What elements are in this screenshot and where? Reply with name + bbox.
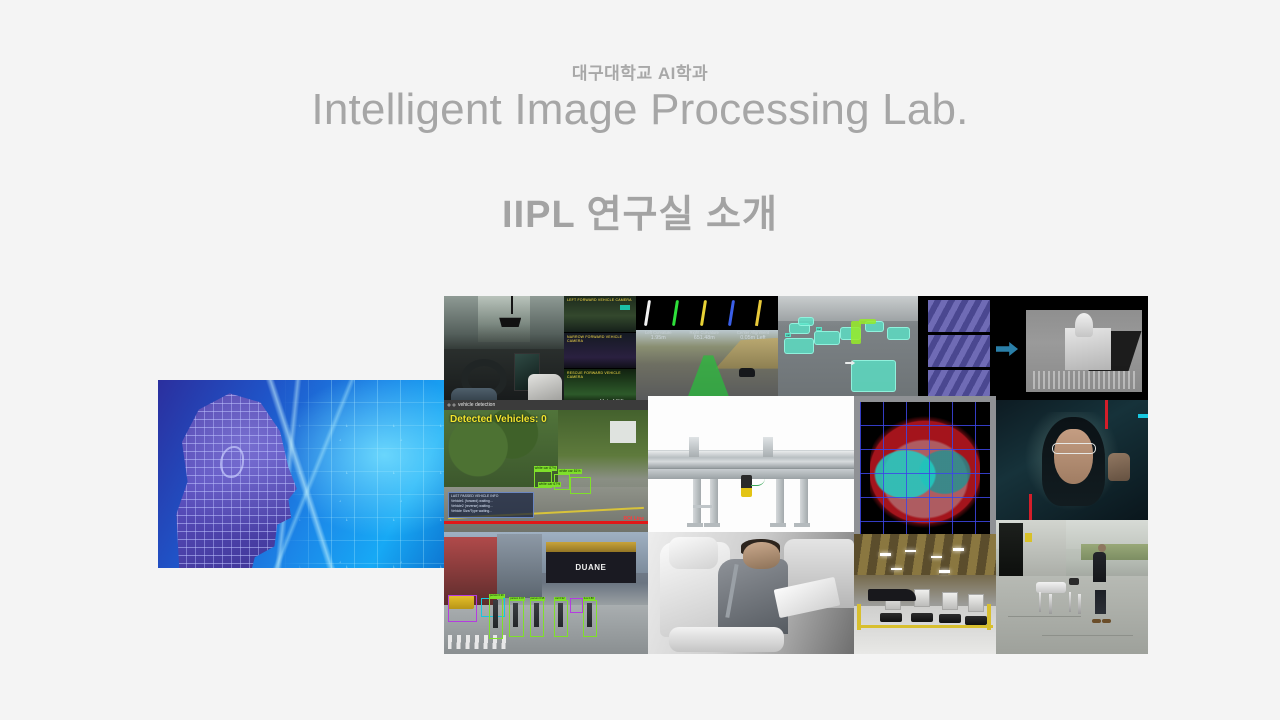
slide-subtitle: IIPL 연구실 소개 (0, 183, 1280, 238)
sensor-cable (751, 478, 765, 486)
lane-curve-green (666, 298, 692, 328)
aerial-view-stack (928, 300, 990, 402)
window-titlebar: vehicle detection (444, 400, 648, 410)
floor-safety-rail (857, 625, 993, 628)
safety-post (857, 604, 861, 630)
roi-label: ROI Line (623, 516, 644, 522)
detection-label: bus 0.88 (583, 597, 595, 601)
robot-head (1069, 578, 1079, 585)
guardrail-sensor-image (648, 396, 854, 532)
last-passed-vehicle-info-panel: LAST PASSED VEHICLE INFO Vehicle1 (forwa… (448, 492, 534, 518)
camera-frame-2: NARROW FORWARD VEHICLE CAMERA (564, 333, 636, 370)
aerial-view-1 (928, 300, 990, 332)
vehicle-mask-label: car (785, 333, 791, 337)
post-base (687, 523, 703, 527)
quadruped-robot-image (996, 520, 1148, 654)
shelf-pod (968, 594, 984, 612)
vehicle-mask (784, 338, 815, 355)
person-torso (1093, 552, 1106, 582)
ceiling-light (880, 553, 891, 556)
detection-label: white car 67% (538, 482, 561, 487)
person-head (1098, 544, 1106, 552)
detection-label: white car 81% (558, 469, 581, 474)
robot-leg (1039, 592, 1042, 612)
detection-marker (620, 305, 630, 310)
camera-frame-1: LEFT FORWARD VEHICLE CAMERA (564, 296, 636, 333)
post-brace (693, 505, 712, 508)
ceiling-light (931, 556, 942, 559)
wall-sign (1025, 533, 1032, 542)
detected-vehicles-counter: Detected Vehicles: 0 (450, 414, 547, 425)
ceiling-light (891, 568, 902, 571)
shelf-pod (942, 592, 958, 610)
scan-viewport (860, 402, 990, 542)
aerial-view-2 (928, 335, 990, 367)
lane-curve-white (638, 298, 664, 328)
vehicle-mask (814, 331, 839, 345)
vehicle-mask (798, 317, 815, 326)
ground-crack (1042, 635, 1133, 636)
detection-box-person (530, 600, 544, 637)
registration-grid (860, 402, 990, 542)
city-building (497, 534, 542, 597)
mobile-robot (965, 616, 987, 625)
headrest (669, 537, 718, 569)
window-title-text: vehicle detection (458, 402, 495, 408)
night-segmentation-image: LEFT FORWARD VEHICLE CAMERA NARROW FORWA… (564, 296, 636, 406)
medical-imaging-image (854, 396, 996, 548)
raised-hand (1108, 453, 1130, 481)
passenger-head (743, 542, 780, 569)
mobile-robot (939, 614, 961, 623)
guardrail-beam (648, 450, 854, 469)
person-legs (1095, 590, 1106, 614)
detection-box-person (489, 598, 503, 639)
open-doorway (999, 523, 1023, 579)
pedestrian-mask (859, 319, 876, 324)
roi-line (444, 521, 648, 524)
ceiling-light (939, 570, 950, 573)
lane-curve-strip (636, 296, 778, 330)
camera-label-3: RESCUE FORWARD VEHICLE CAMERA (567, 371, 636, 379)
ceiling-light (905, 550, 916, 553)
lab-title: Intelligent Image Processing Lab. (0, 85, 1280, 136)
window-controls-icon[interactable] (447, 403, 456, 407)
detection-box-person (554, 600, 568, 637)
lead-vehicle (739, 368, 755, 377)
robot-leg (1069, 592, 1072, 612)
aerial-3d-reconstruction-image (918, 296, 1148, 406)
roadside-house (610, 421, 636, 443)
detection-label: person 0.99 (489, 594, 505, 598)
detection-box-person (583, 600, 597, 637)
lane-curve-road (750, 298, 776, 328)
detection-label: car 0.92 (554, 597, 565, 601)
lane-detection-image: Left Curvature 1.95m Right Curvature 651… (636, 296, 778, 406)
sensor-bracket (689, 437, 699, 457)
building-wall (1020, 520, 1066, 579)
vehicle-mask-label: car (816, 327, 822, 331)
info-line-3: Vehicle Size/Type waiting... (451, 509, 531, 514)
grass-field (1081, 544, 1148, 560)
accent-bar-cyan (1138, 414, 1148, 418)
person-shoe (1092, 619, 1101, 623)
detection-box-other (570, 598, 582, 613)
face-recognition-image (996, 400, 1148, 520)
parking-lot (1033, 371, 1135, 389)
sensor-bracket (763, 437, 773, 457)
presentation-slide: 대구대학교 AI학과 Intelligent Image Processing … (0, 0, 1280, 720)
subject-face (1054, 429, 1094, 484)
lane-curve-blue (722, 298, 748, 328)
detection-label: person 0.95 (530, 597, 546, 601)
vehicle-mask (851, 360, 896, 391)
person-shoe (1102, 619, 1111, 623)
post-base (704, 523, 720, 527)
ai-wireframe-head-image (158, 380, 448, 568)
pedestrian-detection-image: DUANE person 0.99 person 0.97 person 0.9… (444, 532, 648, 654)
reconstructed-3d-model (1026, 310, 1142, 392)
accent-bar-red (1105, 400, 1108, 429)
brand-banner (868, 589, 916, 601)
mobile-robot (911, 613, 933, 622)
seat-cushion (669, 627, 784, 651)
warehouse-robotics-image (854, 534, 996, 654)
detection-box (570, 477, 590, 494)
roadside-hill (716, 338, 778, 369)
ground-crack (1008, 616, 1081, 617)
glasses-icon (1052, 443, 1096, 454)
vehicle-mask (887, 327, 909, 339)
metric-left-curvature: Left Curvature 1.95m (645, 330, 672, 341)
store-sign: DUANE (546, 552, 636, 584)
safety-post (987, 604, 991, 630)
av-cockpit-image (444, 296, 564, 406)
shelf-pod (914, 589, 930, 607)
capitol-dome (1075, 313, 1093, 337)
ceiling-light (953, 548, 964, 551)
av-passenger-image (648, 532, 854, 654)
metric-right-curvature: Right Curvature 651.48m (690, 330, 719, 341)
camera-label-1: LEFT FORWARD VEHICLE CAMERA (567, 298, 632, 302)
detection-box-person (509, 600, 523, 637)
robot-leg (1049, 594, 1052, 614)
pedestrian-mask (851, 321, 861, 344)
vehicle-detection-image: white car 87% white car 81% white car 67… (444, 400, 648, 532)
robot-leg (1078, 594, 1081, 614)
vehicle-segmentation-image: car car (778, 296, 918, 400)
detection-label: person 0.97 (509, 597, 525, 601)
camera-label-2: NARROW FORWARD VEHICLE CAMERA (567, 335, 636, 343)
lane-curve-yellow (694, 298, 720, 328)
post-base (770, 523, 786, 527)
concrete-ground (996, 576, 1148, 654)
lamp-stem (511, 296, 513, 314)
warehouse-roof (854, 534, 996, 575)
detection-label: white car 87% (534, 466, 557, 471)
robot-body (1036, 582, 1066, 593)
department-line: 대구대학교 AI학과 (0, 59, 1280, 84)
process-arrow-icon (996, 342, 1018, 356)
post-base (794, 523, 810, 527)
mobile-robot (880, 613, 902, 622)
accent-bar-red (1029, 494, 1032, 520)
detection-box-other (448, 595, 477, 622)
